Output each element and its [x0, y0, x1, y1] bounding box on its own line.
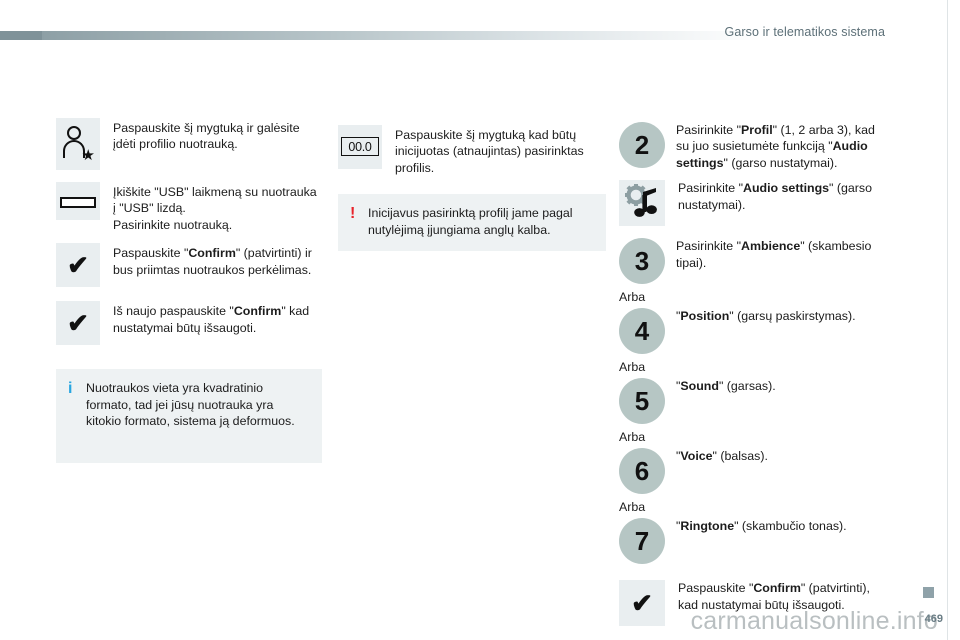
step-ringtone: 7 "Ringtone" (skambučio tonas). — [619, 518, 891, 564]
number-badge-7: 7 — [619, 518, 665, 564]
step-insert-usb-text: Įkiškite "USB" laikmeną su nuotrauka į "… — [113, 182, 322, 233]
step-profile-photo: ★ Paspauskite šį mygtuką ir galėsite įdė… — [56, 118, 322, 170]
step-confirm-save: ✔ Iš naujo paspauskite "Confirm" kad nus… — [56, 301, 322, 345]
step-select-profile-text: Pasirinkite "Profil" (1, 2 arba 3), kad … — [676, 122, 891, 171]
number-badge-5: 5 — [619, 378, 665, 424]
usb-slot-icon-tile — [56, 182, 100, 220]
check-icon: ✔ — [619, 580, 665, 626]
site-watermark: carmanualsonline.info — [691, 607, 938, 636]
step-confirm-transfer-text: Paspauskite "Confirm" (patvirtinti) ir b… — [113, 243, 322, 278]
step-ambience-text: Pasirinkite "Ambience" (skambesio tipai)… — [676, 238, 891, 271]
check-icon: ✔ — [56, 243, 100, 287]
page-number: 469 — [925, 613, 943, 625]
step-insert-usb: Įkiškite "USB" laikmeną su nuotrauka į "… — [56, 182, 322, 233]
right-column: 2 Pasirinkite "Profil" (1, 2 arba 3), ka… — [619, 122, 891, 626]
check-icon-tile-2: ✔ — [56, 301, 100, 345]
or-label-2: Arba — [619, 360, 891, 374]
manual-page: Garso ir telematikos sistema ★ Paspauski… — [0, 0, 960, 640]
info-note-text: Nuotraukos vieta yra kvadratinio formato… — [86, 380, 308, 429]
number-badge-4: 4 — [619, 308, 665, 354]
step-sound-text: "Sound" (garsas). — [676, 378, 776, 394]
check-icon: ✔ — [56, 301, 100, 345]
step-initialize-profile: 00.0 Paspauskite šį mygtuką kad būtų ini… — [338, 125, 606, 176]
warning-note-text: Inicijavus pasirinktą profilį jame pagal… — [368, 205, 592, 238]
number-badge-2: 2 — [619, 122, 665, 168]
star-icon: ★ — [82, 148, 95, 163]
step-profile-photo-text: Paspauskite šį mygtuką ir galėsite įdėti… — [113, 118, 322, 153]
number-badge-6: 6 — [619, 448, 665, 494]
step-voice: 6 "Voice" (balsas). — [619, 448, 891, 494]
or-label-3: Arba — [619, 430, 891, 444]
numeric-display-icon: 00.0 — [341, 137, 379, 156]
step-sound: 5 "Sound" (garsas). — [619, 378, 891, 424]
numeric-display-icon-tile: 00.0 — [338, 125, 382, 169]
warning-note: ! Inicijavus pasirinktą profilį jame pag… — [338, 194, 606, 251]
step-initialize-profile-text: Paspauskite šį mygtuką kad būtų inicijuo… — [395, 125, 606, 176]
left-column: ★ Paspauskite šį mygtuką ir galėsite įdė… — [56, 118, 322, 463]
step-audio-settings: Pasirinkite "Audio settings" (garso nust… — [619, 180, 891, 226]
check-icon-tile-3: ✔ — [619, 580, 665, 626]
step-ringtone-text: "Ringtone" (skambučio tonas). — [676, 518, 847, 534]
step-select-profile: 2 Pasirinkite "Profil" (1, 2 arba 3), ka… — [619, 122, 891, 171]
step-position-text: "Position" (garsų paskirstymas). — [676, 308, 856, 324]
step-confirm-save-text: Iš naujo paspauskite "Confirm" kad nusta… — [113, 301, 322, 336]
step-audio-settings-text: Pasirinkite "Audio settings" (garso nust… — [678, 180, 891, 213]
header-bar-cap — [0, 31, 42, 40]
warning-icon: ! — [350, 205, 368, 222]
check-icon-tile-1: ✔ — [56, 243, 100, 287]
corner-mark — [923, 587, 934, 598]
number-badge-3: 3 — [619, 238, 665, 284]
header-gradient-bar — [0, 31, 760, 40]
or-label-4: Arba — [619, 500, 891, 514]
step-position: 4 "Position" (garsų paskirstymas). — [619, 308, 891, 354]
profile-photo-icon-tile: ★ — [56, 118, 100, 170]
usb-slot-icon — [60, 197, 96, 208]
step-voice-text: "Voice" (balsas). — [676, 448, 768, 464]
gear-music-note-icon — [619, 180, 665, 226]
middle-column: 00.0 Paspauskite šį mygtuką kad būtų ini… — [338, 125, 606, 251]
page-title: Garso ir telematikos sistema — [725, 25, 885, 39]
audio-settings-icon-tile — [619, 180, 665, 226]
info-note: i Nuotraukos vieta yra kvadratinio forma… — [56, 369, 322, 463]
or-label-1: Arba — [619, 290, 891, 304]
info-icon: i — [68, 380, 86, 397]
step-confirm-transfer: ✔ Paspauskite "Confirm" (patvirtinti) ir… — [56, 243, 322, 287]
step-ambience: 3 Pasirinkite "Ambience" (skambesio tipa… — [619, 238, 891, 284]
page-right-rule — [947, 0, 960, 640]
